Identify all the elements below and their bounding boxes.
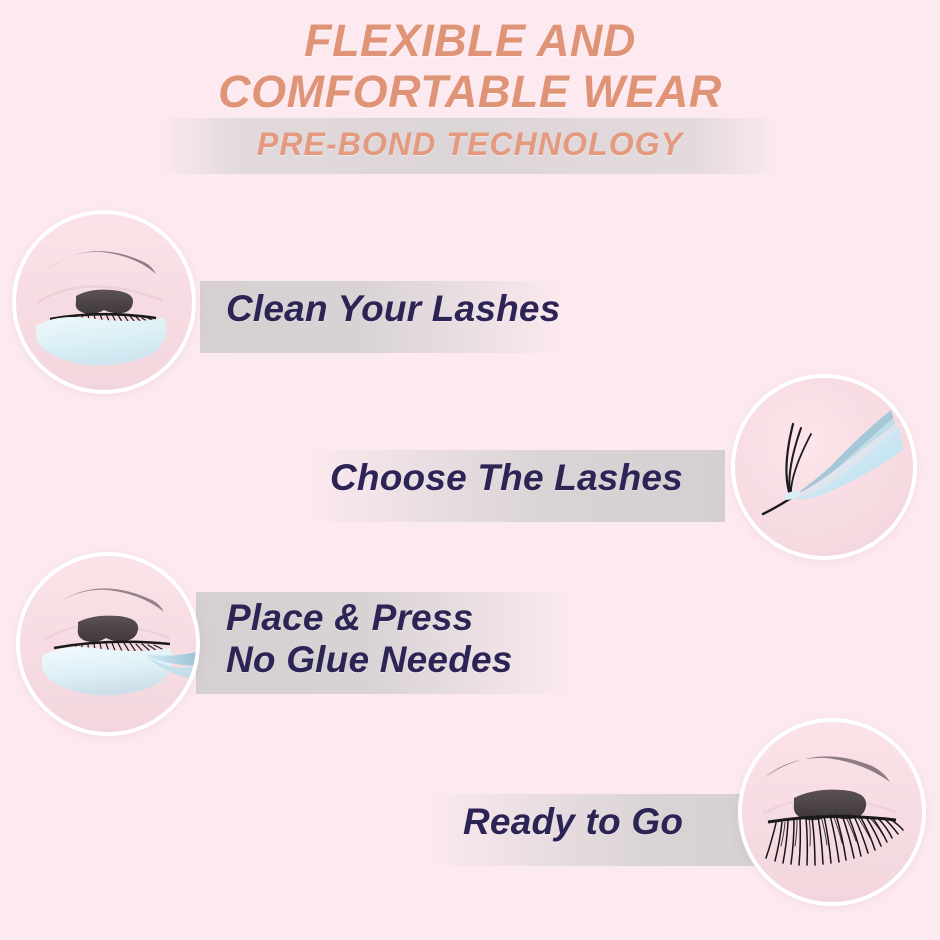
- step-4-image: [742, 722, 922, 902]
- step-1-label: Clean Your Lashes: [226, 288, 560, 330]
- applying-lashes-with-tweezers-illustration: [20, 556, 196, 732]
- title-line-1: FLEXIBLE AND: [0, 16, 940, 67]
- step-3-label: Place & Press No Glue Needes: [226, 597, 513, 681]
- step-2-label: Choose The Lashes: [330, 457, 683, 499]
- page-subtitle: PRE-BOND TECHNOLOGY: [0, 126, 940, 163]
- step-1-image: [16, 214, 192, 390]
- step-3-image: [20, 556, 196, 732]
- closed-eye-with-cleaning-patch-illustration: [16, 214, 192, 390]
- step-4-label: Ready to Go: [463, 801, 683, 843]
- infographic-canvas: FLEXIBLE AND COMFORTABLE WEAR PRE-BOND T…: [0, 0, 940, 940]
- title-line-2: COMFORTABLE WEAR: [0, 67, 940, 118]
- step-2-image: [735, 378, 913, 556]
- finished-long-lashes-eye-illustration: [742, 722, 922, 902]
- tweezers-holding-lash-fan-illustration: [735, 378, 913, 556]
- page-title: FLEXIBLE AND COMFORTABLE WEAR: [0, 16, 940, 118]
